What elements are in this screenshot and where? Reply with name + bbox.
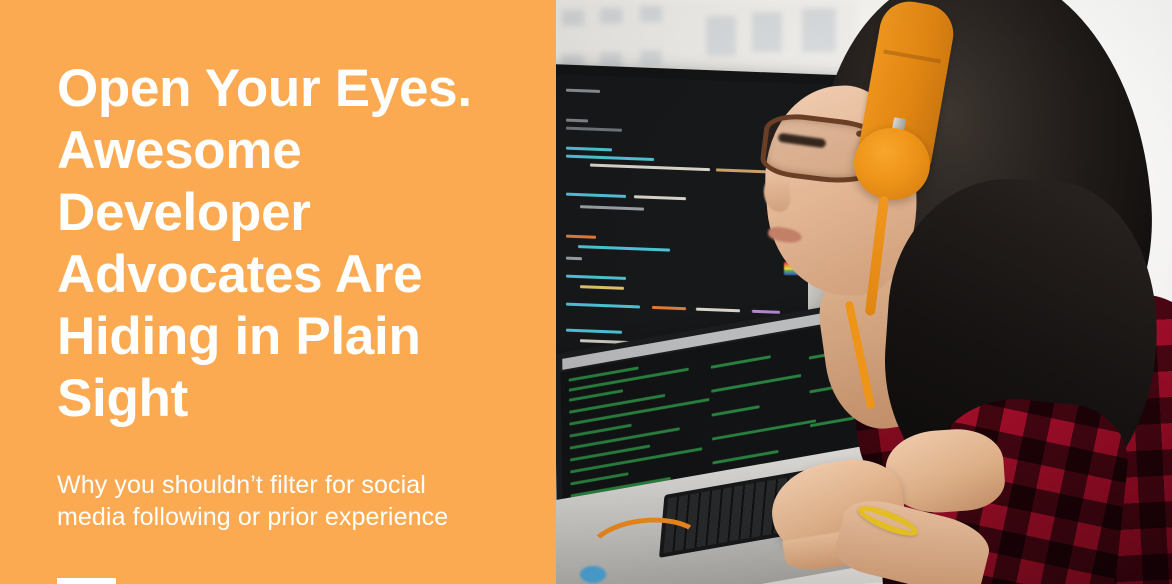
hero-text-panel: Open Your Eyes. Awesome Developer Advoca… [0, 0, 556, 584]
title-divider-rule [57, 578, 116, 584]
page-title: Open Your Eyes. Awesome Developer Advoca… [57, 58, 477, 430]
code-editor-lines [556, 74, 854, 85]
blue-object [580, 566, 606, 583]
hero-photo [556, 0, 1172, 584]
blog-hero-banner: Open Your Eyes. Awesome Developer Advoca… [0, 0, 1172, 584]
page-subtitle: Why you shouldn’t filter for social medi… [57, 469, 497, 533]
